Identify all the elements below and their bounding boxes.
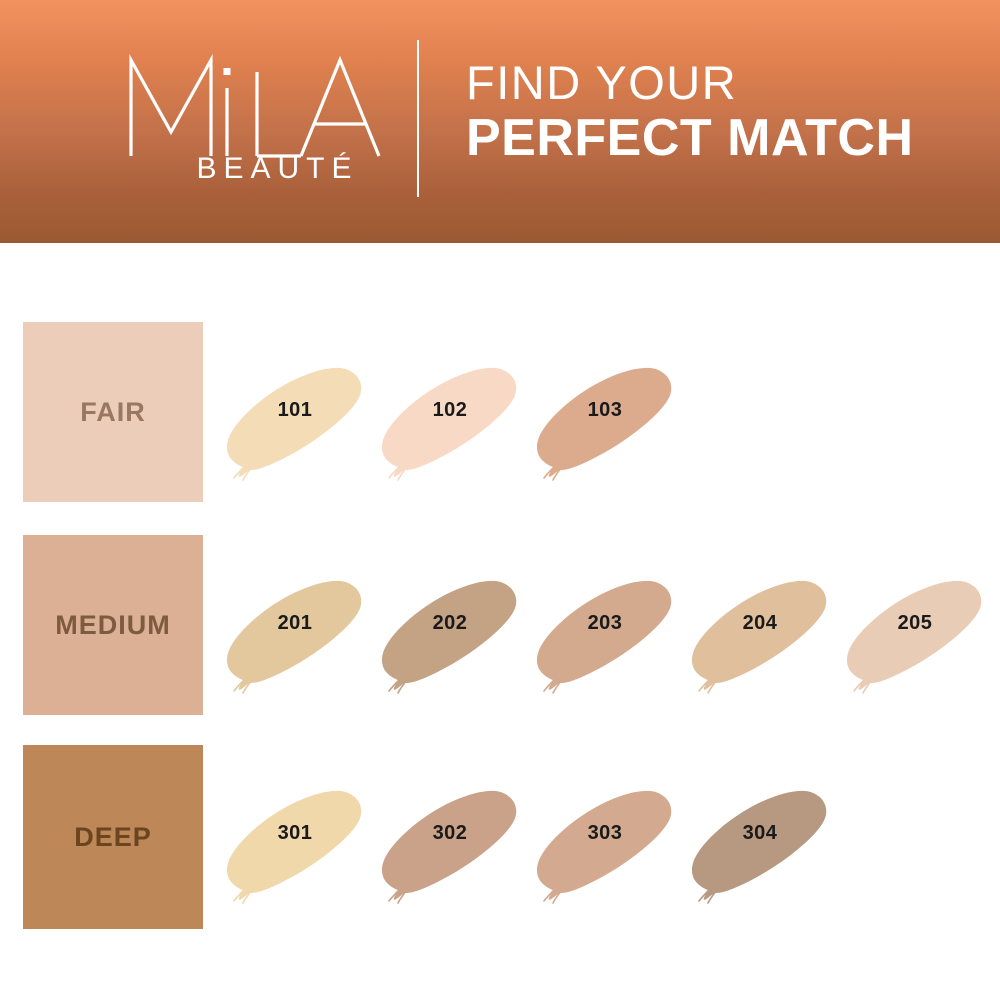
category-label: FAIR — [80, 397, 146, 428]
shade-swatch-103[interactable]: 103 — [525, 362, 685, 497]
category-label: MEDIUM — [55, 610, 171, 641]
shade-code-label: 102 — [370, 399, 530, 422]
shade-chart: FAIR101102103MEDIUM201202203204205DEEP30… — [0, 243, 1000, 1000]
shade-code-label: 204 — [680, 612, 840, 635]
headline-line-1: FIND YOUR — [466, 58, 936, 108]
shade-swatch-302[interactable]: 302 — [370, 785, 530, 920]
shade-swatch-101[interactable]: 101 — [215, 362, 375, 497]
shade-row-deep: DEEP301302303304 — [0, 745, 1000, 929]
shade-swatch-204[interactable]: 204 — [680, 575, 840, 710]
category-block-medium[interactable]: MEDIUM — [23, 535, 203, 715]
shade-code-label: 301 — [215, 822, 375, 845]
shade-swatch-202[interactable]: 202 — [370, 575, 530, 710]
swatch-strip: 101102103 — [215, 322, 680, 502]
shade-row-fair: FAIR101102103 — [0, 322, 1000, 502]
category-block-deep[interactable]: DEEP — [23, 745, 203, 929]
shade-swatch-304[interactable]: 304 — [680, 785, 840, 920]
shade-code-label: 302 — [370, 822, 530, 845]
shade-code-label: 303 — [525, 822, 685, 845]
shade-code-label: 101 — [215, 399, 375, 422]
shade-swatch-201[interactable]: 201 — [215, 575, 375, 710]
brand-logo: BEAUTÉ — [105, 46, 390, 201]
brand-wordmark-mila — [105, 46, 390, 158]
shade-code-label: 304 — [680, 822, 840, 845]
shade-swatch-301[interactable]: 301 — [215, 785, 375, 920]
brand-subtext-beaute: BEAUTÉ — [165, 154, 390, 184]
shade-swatch-303[interactable]: 303 — [525, 785, 685, 920]
shade-swatch-102[interactable]: 102 — [370, 362, 530, 497]
headline-line-2: PERFECT MATCH — [466, 111, 936, 166]
shade-code-label: 205 — [835, 612, 995, 635]
headline-block: FIND YOUR PERFECT MATCH — [466, 58, 936, 166]
swatch-strip: 201202203204205 — [215, 535, 990, 715]
shade-row-medium: MEDIUM201202203204205 — [0, 535, 1000, 715]
shade-code-label: 203 — [525, 612, 685, 635]
shade-code-label: 201 — [215, 612, 375, 635]
swatch-strip: 301302303304 — [215, 745, 835, 929]
category-block-fair[interactable]: FAIR — [23, 322, 203, 502]
shade-swatch-205[interactable]: 205 — [835, 575, 995, 710]
shade-swatch-203[interactable]: 203 — [525, 575, 685, 710]
category-label: DEEP — [74, 822, 152, 853]
header-divider — [417, 40, 419, 197]
shade-code-label: 103 — [525, 399, 685, 422]
shade-code-label: 202 — [370, 612, 530, 635]
header-banner: BEAUTÉ FIND YOUR PERFECT MATCH — [0, 0, 1000, 243]
